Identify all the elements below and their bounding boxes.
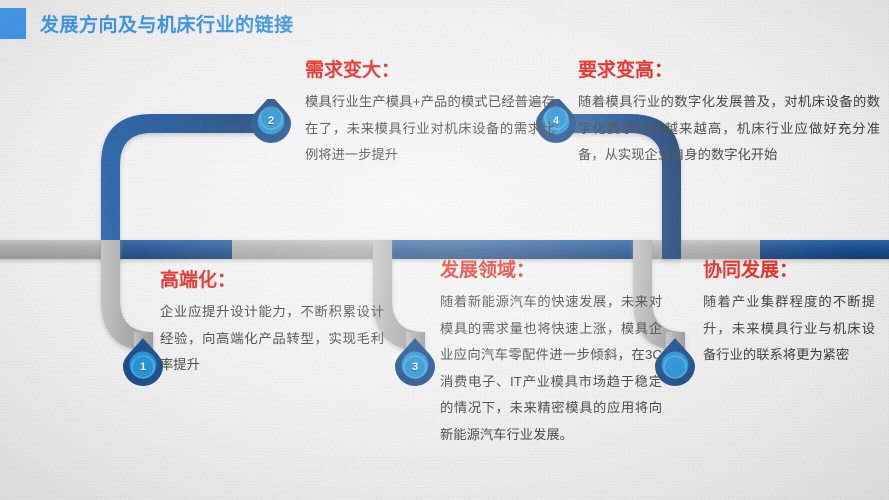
step-heading-2: 需求变大： [305,58,555,84]
slide-title-bar: 发展方向及与机床行业的链接 [0,8,294,39]
step-number-2: 2 [254,104,288,138]
step-block-2: 需求变大： 模具行业生产模具+产品的模式已经普遍存在了，未来模具行业对机床设备的… [305,58,555,169]
step-heading-3: 发展领域： [440,258,662,284]
step-heading-4: 要求变高： [578,58,880,84]
step-body-4: 随着模具行业的数字化发展普及，对机床设备的数字化要求也将越来越高，机床行业应做好… [578,89,880,169]
step-marker-4[interactable]: 4 [539,104,573,138]
step-number-1: 1 [126,350,160,384]
step-body-2: 模具行业生产模具+产品的模式已经普遍存在了，未来模具行业对机床设备的需求比例将进… [305,89,555,169]
step-block-3: 发展领域： 随着新能源汽车的快速发展，未来对模具的需求量也将快速上涨，模具企业应… [440,258,662,448]
title-accent-swatch [0,8,26,39]
step-heading-1: 高端化： [160,268,384,294]
slide-canvas: 发展方向及与机床行业的链接 2 4 1 [0,0,889,500]
step-body-1: 企业应提升设计能力，不断积累设计经验，向高端化产品转型，实现毛利率提升 [160,299,384,379]
step-block-5: 协同发展： 随着产业集群程度的不断提升，未来模具行业与机床设备行业的联系将更为紧… [703,258,875,369]
page-title: 发展方向及与机床行业的链接 [40,10,294,37]
step-block-1: 高端化： 企业应提升设计能力，不断积累设计经验，向高端化产品转型，实现毛利率提升 [160,268,384,379]
step-body-5: 随着产业集群程度的不断提升，未来模具行业与机床设备行业的联系将更为紧密 [703,289,875,369]
step-number-5 [658,350,692,384]
step-marker-5[interactable] [658,341,692,375]
step-marker-1[interactable]: 1 [126,341,160,375]
step-block-4: 要求变高： 随着模具行业的数字化发展普及，对机床设备的数字化要求也将越来越高，机… [578,58,880,169]
step-marker-3[interactable]: 3 [398,341,432,375]
step-heading-5: 协同发展： [703,258,875,284]
step-marker-2[interactable]: 2 [254,104,288,138]
step-number-3: 3 [398,350,432,384]
step-number-4: 4 [539,104,573,138]
step-body-3: 随着新能源汽车的快速发展，未来对模具的需求量也将快速上涨，模具企业应向汽车零配件… [440,289,662,448]
